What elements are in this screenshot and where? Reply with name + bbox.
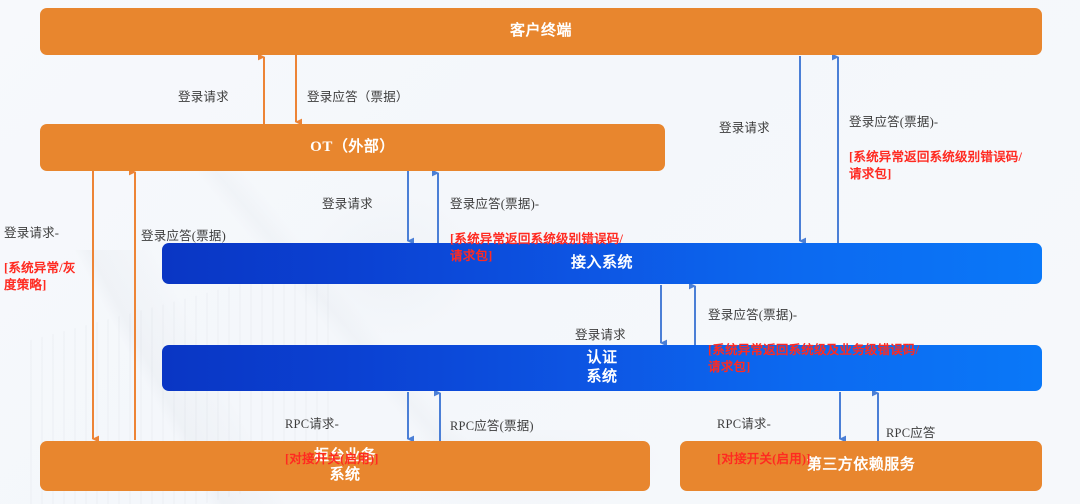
edge-label-left-response: 登录应答(票据)	[141, 211, 226, 263]
node-ot-external[interactable]: OT（外部）	[40, 124, 665, 171]
edge-label-access-to-auth-request: 登录请求	[575, 310, 626, 362]
edge-label-client-to-ot-response: 登录应答（票据）	[307, 72, 409, 124]
edge-label-access-to-ot-response: 登录应答(票据)- [系统异常返回系统级别错误码/ 请求包]	[450, 179, 623, 283]
node-ot-external-label: OT（外部）	[310, 138, 395, 157]
edge-label-auth-to-counter-rpc: RPC请求- [对接开关(启用)]	[285, 399, 379, 485]
edge-label-third-to-auth-rpc: RPC应答	[886, 408, 936, 460]
edge-label-left-request-gray: 登录请求- [系统异常/灰 度策略]	[4, 208, 76, 312]
edge-label-ot-to-access-request: 登录请求	[322, 179, 373, 231]
edge-label-counter-to-auth-rpc: RPC应答(票据)	[450, 401, 534, 453]
edge-label-ot-to-client-request: 登录请求	[178, 72, 229, 124]
node-client-terminal-label: 客户终端	[510, 22, 572, 41]
diagram-canvas: 客户终端 OT（外部） 接入系统 认证 系统 柜台业务 系统 第三方依赖服务 登…	[0, 0, 1080, 504]
edge-label-auth-to-third-rpc: RPC请求- [对接开关(启用)]	[717, 399, 811, 485]
edge-label-access-to-client-response: 登录应答(票据)- [系统异常返回系统级别错误码/ 请求包]	[849, 97, 1022, 201]
node-client-terminal[interactable]: 客户终端	[40, 8, 1042, 55]
edge-label-client-to-access-request: 登录请求	[719, 103, 770, 155]
edge-label-auth-to-access-response: 登录应答(票据)- [系统异常返回系统级及业务级错误码/ 请求包]	[708, 290, 919, 394]
